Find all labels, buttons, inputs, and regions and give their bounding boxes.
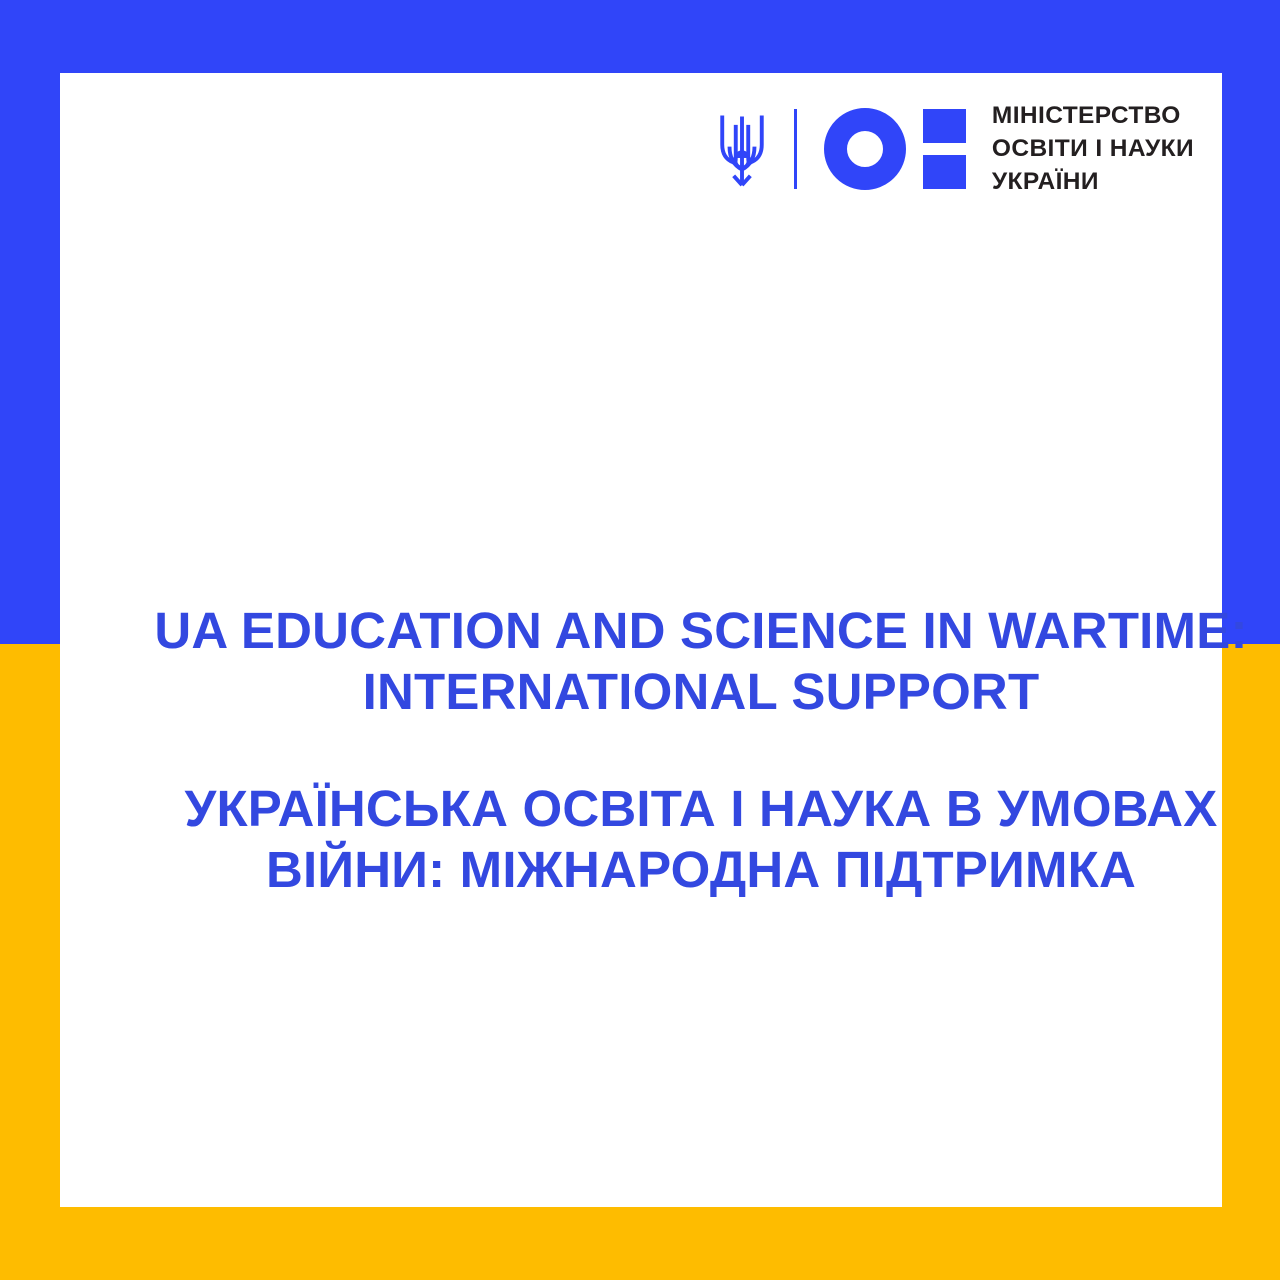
title-english: UA EDUCATION AND SCIENCE IN WARTIME: INT…: [120, 601, 1280, 722]
ukrainian-trident-icon: [716, 106, 768, 192]
colon-squares-icon: [923, 109, 966, 189]
ministry-logo-lockup: МІНІСТЕРСТВО ОСВІТИ І НАУКИ УКРАЇНИ: [716, 100, 1194, 198]
title-ukrainian: УКРАЇНСЬКА ОСВІТА І НАУКА В УМОВАХ ВІЙНИ…: [120, 779, 1280, 900]
white-content-card: МІНІСТЕРСТВО ОСВІТИ І НАУКИ УКРАЇНИ UA E…: [60, 73, 1222, 1207]
square-top: [923, 109, 966, 143]
title-block: UA EDUCATION AND SCIENCE IN WARTIME: INT…: [120, 601, 1280, 901]
mon-mark-icon: [824, 108, 966, 190]
square-bottom: [923, 155, 966, 189]
ministry-name-text: МІНІСТЕРСТВО ОСВІТИ І НАУКИ УКРАЇНИ: [992, 100, 1194, 198]
logo-divider: [794, 109, 797, 189]
poster-canvas: МІНІСТЕРСТВО ОСВІТИ І НАУКИ УКРАЇНИ UA E…: [0, 0, 1280, 1280]
ring-o-icon: [824, 108, 906, 190]
